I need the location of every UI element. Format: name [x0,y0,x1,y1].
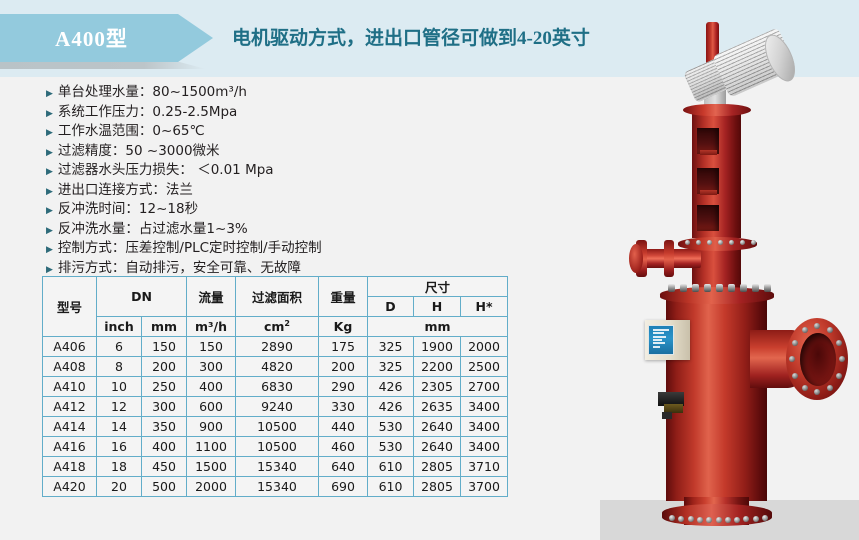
cell-flow: 150 [187,337,236,357]
cell-mm: 400 [142,437,187,457]
specification-table: 型号 DN 流量 过滤面积 重量 尺寸 D H H* inch mm m³/h … [42,276,508,497]
nozzle-bolt [792,340,798,346]
base-flange-bolt [688,516,694,522]
cell-weight: 440 [319,417,368,437]
base-flange-bolt [734,517,740,523]
cell-inch: 10 [97,377,142,397]
cell-model: A420 [43,477,97,497]
cell-weight: 175 [319,337,368,357]
spec-item-label: 排污方式：自动排污，安全可靠、无故障 [58,256,301,276]
flange-bolt [704,284,711,292]
cell-hstar: 3400 [461,417,508,437]
cell-hstar: 2500 [461,357,508,377]
control-panel-text-line [653,329,669,331]
cell-h: 2805 [414,457,461,477]
table-row: A4161640011001050046053026403400 [43,437,508,457]
triangle-bullet-icon: ▶ [46,245,53,254]
nozzle-bolt [802,385,808,391]
specification-table-container: 型号 DN 流量 过滤面积 重量 尺寸 D H H* inch mm m³/h … [42,276,508,497]
nozzle-bolt [792,373,798,379]
spec-item: ▶ 工作水温范围：0~65℃ [46,119,466,139]
cell-mm: 250 [142,377,187,397]
table-body: A4066150150289017532519002000A4088200300… [43,337,508,497]
cell-flow: 1100 [187,437,236,457]
control-panel-text-line [653,339,662,341]
triangle-bullet-icon: ▶ [46,167,53,176]
spec-item: ▶ 排污方式：自动排污，安全可靠、无故障 [46,256,466,276]
cell-d: 530 [368,417,414,437]
specification-list: ▶ 单台处理水量：80~1500m³/h ▶ 系统工作压力：0.25-2.5Mp… [46,80,466,295]
slot-crossbar [700,150,717,155]
base-flange-bolt [762,515,768,521]
cell-area: 15340 [236,457,319,477]
th-unit-area-sup: 2 [284,319,290,328]
cell-weight: 330 [319,397,368,417]
th-flow: 流量 [187,277,236,317]
vessel-top-flange [660,287,774,304]
cell-flow: 300 [187,357,236,377]
cell-d: 426 [368,397,414,417]
th-dn: DN [97,277,187,317]
nozzle-bolt [827,385,833,391]
cell-model: A406 [43,337,97,357]
flange-bolt [668,284,675,292]
cell-hstar: 3400 [461,397,508,417]
cell-inch: 20 [97,477,142,497]
cell-h: 2635 [414,397,461,417]
cell-mm: 150 [142,337,187,357]
model-title-tag: A400型 [0,14,213,62]
cell-model: A410 [43,377,97,397]
flange-bolt [740,240,745,245]
cell-weight: 640 [319,457,368,477]
spec-item-label: 进出口连接方式：法兰 [58,178,193,198]
outlet-nozzle-bore [800,333,836,386]
spec-item-label: 控制方式：压差控制/PLC定时控制/手动控制 [58,236,322,256]
flange-bolt [718,240,723,245]
th-weight: 重量 [319,277,368,317]
table-row: A4088200300482020032522002500 [43,357,508,377]
control-panel-text-line [653,342,665,344]
th-h-star: H* [461,297,508,317]
control-panel-text-line [653,332,664,334]
nozzle-bolt [836,340,842,346]
cell-hstar: 2700 [461,377,508,397]
cell-h: 2640 [414,437,461,457]
spec-item: ▶ 过滤器水头压力损失： ＜0.01 Mpa [46,158,466,178]
spec-item: ▶ 单台处理水量：80~1500m³/h [46,80,466,100]
cell-model: A414 [43,417,97,437]
cell-weight: 460 [319,437,368,457]
cell-d: 325 [368,357,414,377]
th-unit-inch: inch [97,317,142,337]
th-size-group: 尺寸 [368,277,508,297]
cell-mm: 450 [142,457,187,477]
cell-flow: 400 [187,377,236,397]
th-model: 型号 [43,277,97,337]
cell-inch: 14 [97,417,142,437]
triangle-bullet-icon: ▶ [46,265,53,274]
spec-item: ▶ 进出口连接方式：法兰 [46,178,466,198]
spec-item-label: 系统工作压力：0.25-2.5Mpa [58,100,237,120]
cell-h: 2200 [414,357,461,377]
base-flange-bolt [743,516,749,522]
cell-flow: 1500 [187,457,236,477]
cell-hstar: 2000 [461,337,508,357]
flange-bolt [680,284,687,292]
th-unit-size: mm [368,317,508,337]
cell-area: 10500 [236,437,319,457]
cell-d: 426 [368,377,414,397]
triangle-bullet-icon: ▶ [46,89,53,98]
cell-d: 530 [368,437,414,457]
flange-bolt [692,284,699,292]
th-unit-area: cm2 [236,317,319,337]
cell-flow: 2000 [187,477,236,497]
control-panel-label [648,325,674,355]
base-flange-bolt [725,517,731,523]
spec-item: ▶ 过滤精度：50 ~3000微米 [46,139,466,159]
cell-weight: 690 [319,477,368,497]
inlet-end-cap [629,244,643,273]
base-flange-bolt [753,516,759,522]
base-flange-bolt [678,516,684,522]
table-header: 型号 DN 流量 过滤面积 重量 尺寸 D H H* inch mm m³/h … [43,277,508,337]
cell-d: 610 [368,477,414,497]
cell-d: 610 [368,457,414,477]
cell-h: 2305 [414,377,461,397]
flange-bolt [764,284,771,292]
table-row: A4202050020001534069061028053700 [43,477,508,497]
mid-flange [678,237,757,251]
spec-item-label: 反冲洗水量：占过滤水量1~3% [58,217,248,237]
th-unit-mm: mm [142,317,187,337]
cell-inch: 12 [97,397,142,417]
cell-model: A408 [43,357,97,377]
cell-hstar: 3400 [461,437,508,457]
cell-mm: 500 [142,477,187,497]
column-slot [697,205,719,231]
spec-item: ▶ 系统工作压力：0.25-2.5Mpa [46,100,466,120]
product-photo-filter-unit [600,0,859,540]
inlet-flange-inner [664,240,674,277]
flange-bolt [740,284,747,292]
th-filter-area: 过滤面积 [236,277,319,317]
table-row: A414143509001050044053026403400 [43,417,508,437]
drain-outlet-tip [662,412,672,419]
th-d: D [368,297,414,317]
triangle-bullet-icon: ▶ [46,128,53,137]
triangle-bullet-icon: ▶ [46,187,53,196]
nozzle-bolt [789,356,795,362]
model-title-label: A400型 [55,23,128,53]
table-row: A41010250400683029042623052700 [43,377,508,397]
cell-area: 2890 [236,337,319,357]
cell-model: A418 [43,457,97,477]
th-h: H [414,297,461,317]
nozzle-bolt [839,356,845,362]
table-header-row-units: inch mm m³/h cm2 Kg mm [43,317,508,337]
triangle-bullet-icon: ▶ [46,148,53,157]
cell-inch: 6 [97,337,142,357]
cell-model: A416 [43,437,97,457]
control-panel-text-line [653,336,666,338]
cell-inch: 16 [97,437,142,457]
spec-item-label: 反冲洗时间：12~18秒 [58,197,198,217]
nozzle-bolt [814,323,820,329]
cell-weight: 200 [319,357,368,377]
flange-bolt [685,240,690,245]
cell-model: A412 [43,397,97,417]
flange-bolt [716,284,723,292]
base-flange [662,504,772,526]
spec-item-label: 单台处理水量：80~1500m³/h [58,80,247,100]
cell-area: 9240 [236,397,319,417]
spec-item: ▶ 控制方式：压差控制/PLC定时控制/手动控制 [46,236,466,256]
cell-flow: 900 [187,417,236,437]
triangle-bullet-icon: ▶ [46,206,53,215]
cell-area: 10500 [236,417,319,437]
cell-mm: 200 [142,357,187,377]
flange-bolt [751,240,756,245]
nozzle-bolt [827,327,833,333]
th-unit-flow: m³/h [187,317,236,337]
cell-mm: 300 [142,397,187,417]
nozzle-bolt [802,327,808,333]
spec-item-label: 过滤器水头压力损失： ＜0.01 Mpa [58,158,274,178]
nozzle-bolt [836,373,842,379]
cell-h: 2640 [414,417,461,437]
table-row: A4181845015001534064061028053710 [43,457,508,477]
th-unit-weight: Kg [319,317,368,337]
cell-flow: 600 [187,397,236,417]
triangle-bullet-icon: ▶ [46,226,53,235]
flange-bolt [752,284,759,292]
header-subtitle: 电机驱动方式，进出口管径可做到4-20英寸 [232,23,590,50]
table-header-row-1: 型号 DN 流量 过滤面积 重量 尺寸 [43,277,508,297]
base-flange-bolt [697,517,703,523]
flange-bolt [729,240,734,245]
triangle-bullet-icon: ▶ [46,109,53,118]
cell-h: 1900 [414,337,461,357]
cell-inch: 8 [97,357,142,377]
spec-item: ▶ 反冲洗水量：占过滤水量1~3% [46,217,466,237]
th-unit-area-text: cm [264,319,284,334]
cell-h: 2805 [414,477,461,497]
cell-d: 325 [368,337,414,357]
flange-bolt [728,284,735,292]
spec-item: ▶ 反冲洗时间：12~18秒 [46,197,466,217]
cell-weight: 290 [319,377,368,397]
cell-hstar: 3710 [461,457,508,477]
cell-mm: 350 [142,417,187,437]
nozzle-bolt [814,389,820,395]
flange-bolt [696,240,701,245]
base-flange-bolt [706,517,712,523]
spec-item-label: 工作水温范围：0~65℃ [58,119,205,139]
cell-inch: 18 [97,457,142,477]
table-row: A4066150150289017532519002000 [43,337,508,357]
spec-item-label: 过滤精度：50 ~3000微米 [58,139,220,159]
upper-flange [683,104,751,116]
base-flange-bolt [669,515,675,521]
flange-bolt [707,240,712,245]
cell-hstar: 3700 [461,477,508,497]
cell-area: 4820 [236,357,319,377]
cell-area: 15340 [236,477,319,497]
control-panel-text-line [653,346,660,348]
cell-area: 6830 [236,377,319,397]
slot-crossbar [700,190,717,195]
base-flange-bolt [716,517,722,523]
table-row: A41212300600924033042626353400 [43,397,508,417]
